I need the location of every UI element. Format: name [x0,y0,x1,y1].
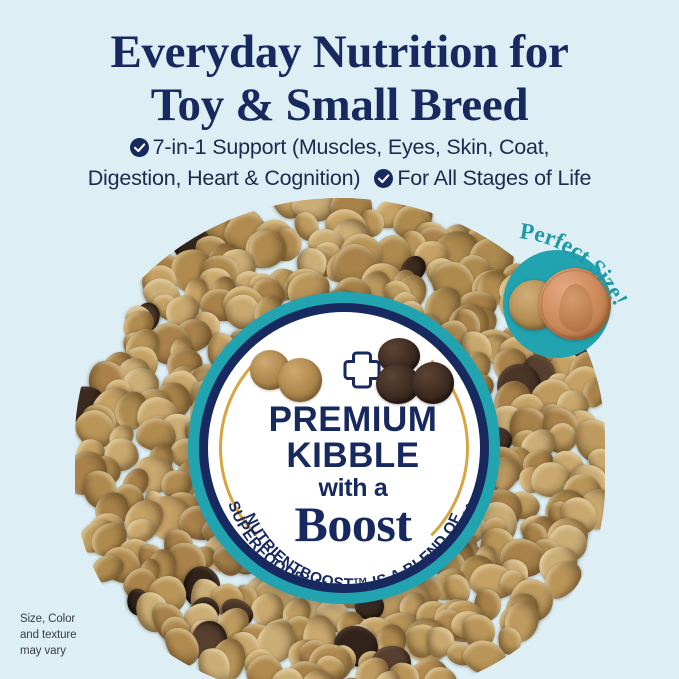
tan-kibble-2 [278,358,322,402]
badge-title-boost: Boost [208,500,480,549]
premium-kibble-badge: PREMIUM KIBBLE with a Boost NUTRIENTBOOS… [188,292,500,604]
badge-title: PREMIUM KIBBLE with a Boost [208,402,480,549]
dark-kibble-cluster [376,338,466,408]
check-circle-icon-2 [374,169,393,188]
disclaimer-line-1: Size, Color [20,612,76,628]
disclaimer-line-2: and texture [20,628,76,644]
feature-bullets: 7-in-1 Support (Muscles, Eyes, Skin, Coa… [36,132,643,193]
badge-face: PREMIUM KIBBLE with a Boost NUTRIENTBOOS… [208,312,480,584]
bullet-text-2: For All Stages of Life [397,166,591,190]
dark-kibble-3 [412,362,454,404]
headline-line-2: Toy & Small Breed [0,79,679,132]
bullet-text-1: 7-in-1 Support (Muscles, Eyes, Skin, Coa… [153,135,550,159]
disclaimer: Size, Color and texture may vary [20,612,76,660]
bullet-line-1: 7-in-1 Support (Muscles, Eyes, Skin, Coa… [36,132,643,163]
badge-title-kibble: KIBBLE [208,438,480,474]
headline-line-1: Everyday Nutrition for [110,26,568,78]
badge-navy-ring: PREMIUM KIBBLE with a Boost NUTRIENTBOOS… [199,303,489,593]
product-marketing-image: Everyday Nutrition for Toy & Small Breed… [0,0,679,679]
penny-coin [539,268,611,340]
disclaimer-line-3: may vary [20,644,76,660]
perfect-size-circle [503,250,611,358]
bullet-line-2: Digestion, Heart & Cognition) For All St… [36,163,643,194]
tan-kibble-cluster [250,348,336,404]
badge-title-premium: PREMIUM [208,402,480,438]
page-title: Everyday Nutrition for Toy & Small Breed [0,26,679,131]
bullet-text-1-cont: Digestion, Heart & Cognition) [88,166,361,190]
check-circle-icon [130,138,149,157]
